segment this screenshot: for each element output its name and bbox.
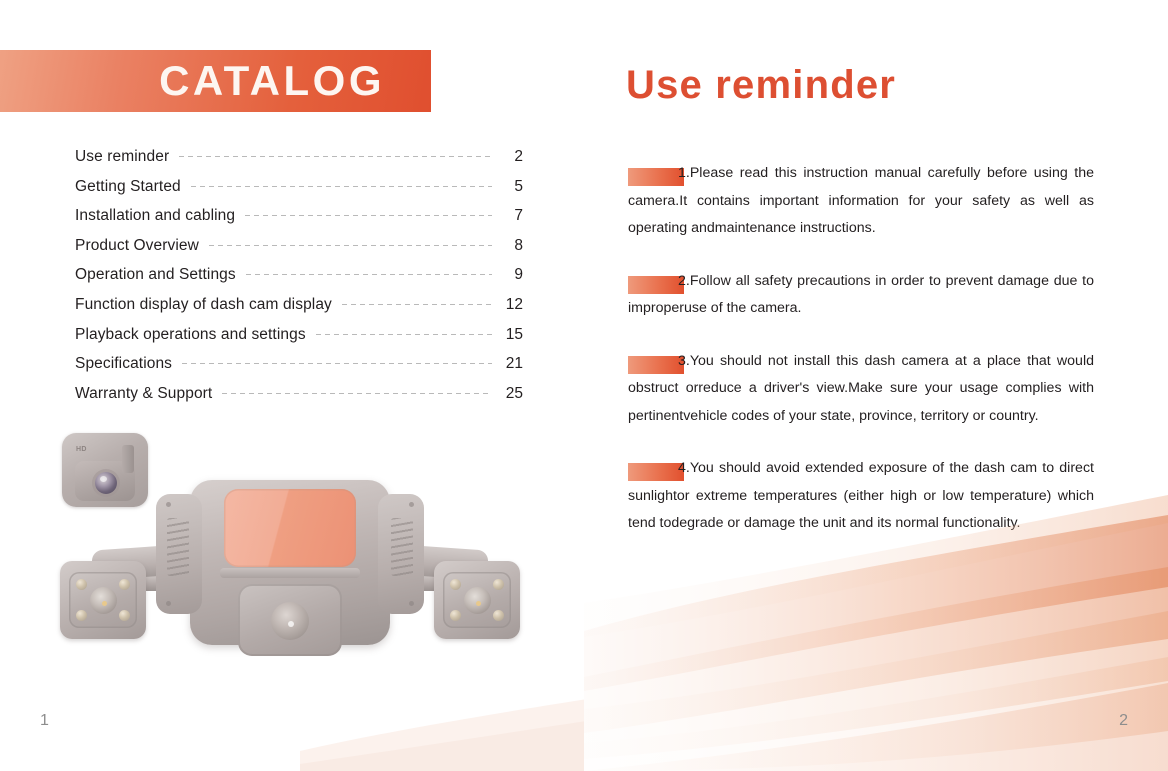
front-camera-lens-icon — [271, 602, 309, 640]
toc-label: Use reminder — [75, 148, 169, 166]
item-number: 2. — [678, 273, 690, 289]
toc-page-number: 25 — [501, 385, 523, 403]
reminder-text: 2.Follow all safety precautions in order… — [628, 268, 1094, 323]
item-body: You should not install this dash camera … — [628, 353, 1094, 424]
manual-spread: CATALOG Use reminder 2 Getting Started 5… — [0, 0, 1168, 771]
item-number: 4. — [678, 460, 690, 476]
screen-ledge — [220, 568, 360, 578]
ir-led-icon — [119, 610, 130, 621]
left-page: CATALOG Use reminder 2 Getting Started 5… — [0, 0, 584, 771]
ir-led-icon — [493, 610, 504, 621]
right-page: Use reminder 1.Please read this instruct… — [584, 0, 1168, 771]
toc-page-number: 21 — [501, 355, 523, 373]
toc-label: Getting Started — [75, 178, 181, 196]
product-photo-dash-cam: HD — [40, 415, 540, 695]
reminder-text: 4.You should avoid extended exposure of … — [628, 455, 1094, 538]
toc-leader-dots — [342, 304, 492, 305]
front-lens-housing — [238, 584, 342, 656]
left-shoulder — [156, 494, 202, 614]
reminder-item-4: 4.You should avoid extended exposure of … — [628, 455, 1094, 538]
toc-label: Specifications — [75, 355, 172, 373]
toc-leader-dots — [209, 245, 492, 246]
toc-leader-dots — [182, 363, 492, 364]
right-side-camera-module — [434, 561, 520, 639]
toc-label: Installation and cabling — [75, 207, 235, 225]
toc-page-number: 5 — [501, 178, 523, 196]
vent-grille — [167, 518, 189, 576]
left-side-camera-module — [60, 561, 146, 639]
toc-label: Product Overview — [75, 237, 199, 255]
reminder-text: 1.Please read this instruction manual ca… — [628, 160, 1094, 243]
toc-page-number: 8 — [501, 237, 523, 255]
toc-label: Operation and Settings — [75, 266, 236, 284]
rear-camera-module: HD — [62, 433, 148, 507]
ir-led-icon — [76, 610, 87, 621]
toc-entry-operation-and-settings[interactable]: Operation and Settings 9 — [75, 266, 523, 296]
catalog-banner: CATALOG — [0, 50, 431, 112]
catalog-title: CATALOG — [159, 60, 385, 102]
toc-leader-dots — [316, 334, 492, 335]
toc-page-number: 15 — [501, 326, 523, 344]
toc-entry-playback-operations[interactable]: Playback operations and settings 15 — [75, 326, 523, 356]
reminder-item-3: 3.You should not install this dash camer… — [628, 348, 1094, 431]
toc-leader-dots — [246, 274, 492, 275]
item-body: Follow all safety precautions in order t… — [628, 273, 1094, 317]
item-body: Please read this instruction manual care… — [628, 165, 1094, 236]
toc-page-number: 7 — [501, 207, 523, 225]
toc-page-number: 9 — [501, 266, 523, 284]
screw-icon — [166, 502, 171, 507]
dash-cam-main-body — [190, 480, 390, 645]
table-of-contents: Use reminder 2 Getting Started 5 Install… — [75, 148, 523, 414]
rear-camera-lens-icon — [95, 472, 117, 494]
left-camera-lens-icon — [90, 587, 117, 614]
screw-icon — [409, 502, 414, 507]
use-reminder-list: 1.Please read this instruction manual ca… — [628, 160, 1094, 563]
toc-page-number: 2 — [501, 148, 523, 166]
toc-entry-product-overview[interactable]: Product Overview 8 — [75, 237, 523, 267]
item-body: You should avoid extended exposure of th… — [628, 460, 1094, 531]
toc-label: Warranty & Support — [75, 385, 212, 403]
toc-entry-use-reminder[interactable]: Use reminder 2 — [75, 148, 523, 178]
page-number-left: 1 — [40, 712, 49, 730]
toc-leader-dots — [191, 186, 492, 187]
vent-grille — [391, 518, 413, 576]
toc-leader-dots — [222, 393, 492, 394]
hd-badge-label: HD — [76, 446, 87, 453]
right-shoulder — [378, 494, 424, 614]
ir-led-icon — [450, 610, 461, 621]
page-title: Use reminder — [626, 65, 896, 105]
toc-entry-specifications[interactable]: Specifications 21 — [75, 355, 523, 385]
toc-entry-warranty-and-support[interactable]: Warranty & Support 25 — [75, 385, 523, 415]
reminder-item-1: 1.Please read this instruction manual ca… — [628, 160, 1094, 243]
ir-led-icon — [493, 579, 504, 590]
right-camera-lens-icon — [464, 587, 491, 614]
item-number: 3. — [678, 353, 690, 369]
screw-icon — [409, 601, 414, 606]
item-number: 1. — [678, 165, 690, 181]
ir-led-icon — [450, 579, 461, 590]
toc-leader-dots — [179, 156, 492, 157]
toc-page-number: 12 — [501, 296, 523, 314]
right-camera-face — [443, 572, 511, 628]
screw-icon — [166, 601, 171, 606]
ir-led-icon — [119, 579, 130, 590]
ir-led-icon — [76, 579, 87, 590]
dash-cam-display-screen — [224, 489, 356, 567]
toc-label: Playback operations and settings — [75, 326, 306, 344]
left-camera-face — [69, 572, 137, 628]
toc-entry-function-display[interactable]: Function display of dash cam display 12 — [75, 296, 523, 326]
toc-leader-dots — [245, 215, 492, 216]
toc-label: Function display of dash cam display — [75, 296, 332, 314]
page-number-right: 2 — [1119, 712, 1128, 730]
toc-entry-installation-and-cabling[interactable]: Installation and cabling 7 — [75, 207, 523, 237]
reminder-item-2: 2.Follow all safety precautions in order… — [628, 268, 1094, 323]
reminder-text: 3.You should not install this dash camer… — [628, 348, 1094, 431]
rear-camera-bracket — [122, 445, 134, 473]
toc-entry-getting-started[interactable]: Getting Started 5 — [75, 178, 523, 208]
